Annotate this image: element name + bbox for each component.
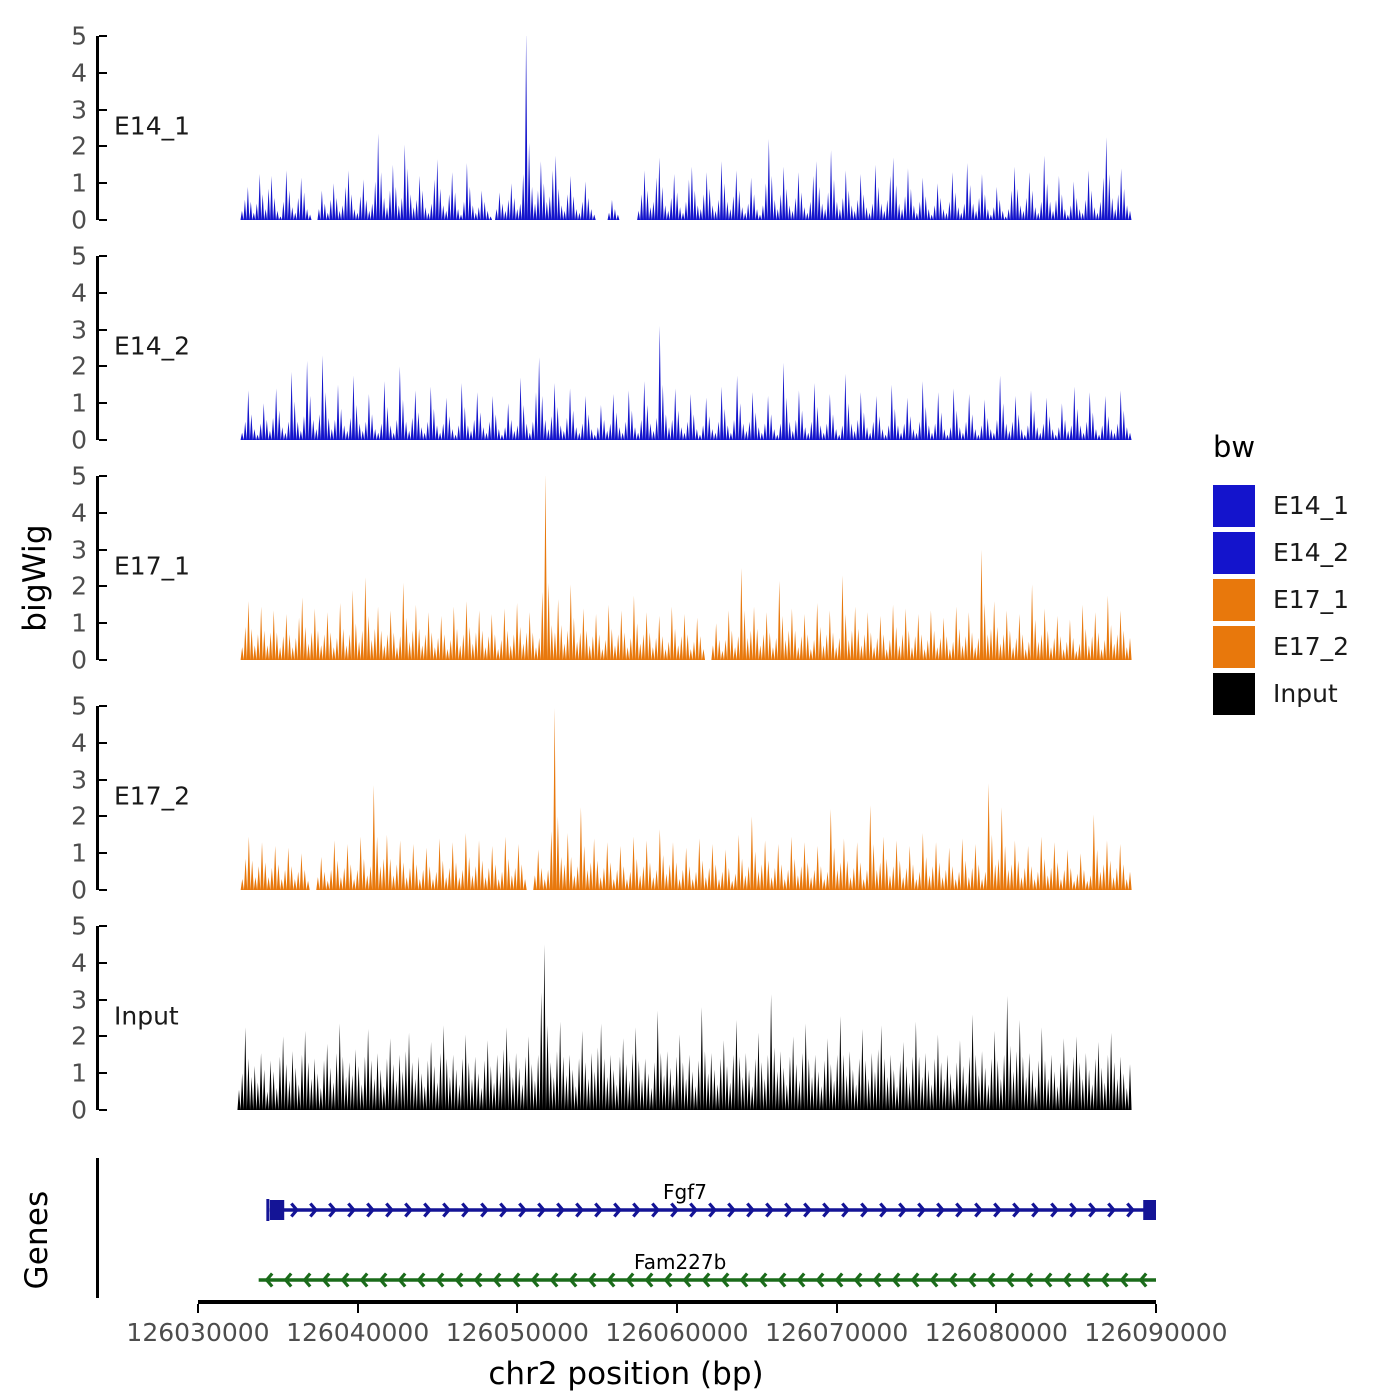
- legend-swatch: [1213, 532, 1255, 574]
- y-tick-label: 3: [71, 767, 87, 792]
- y-tick-label: 5: [71, 464, 87, 489]
- y-tick-label: 4: [71, 60, 87, 85]
- x-tick-label: 126080000: [925, 1318, 1068, 1347]
- y-tick-label: 5: [71, 914, 87, 939]
- x-tick-label: 126060000: [605, 1318, 748, 1347]
- x-axis: 1260300001260400001260500001260600001260…: [96, 1300, 1156, 1400]
- y-tick-label: 4: [71, 730, 87, 755]
- legend-item-e17_2[interactable]: E17_2: [1213, 623, 1393, 670]
- track-panel-e14_1: 012345E14_1: [96, 36, 1156, 220]
- genes-track-panel: Fgf7Fam227b: [96, 1158, 1156, 1298]
- y-tick-label: 5: [71, 244, 87, 269]
- track-panel-e17_2: 012345E17_2: [96, 706, 1156, 890]
- x-tick-label: 126070000: [765, 1318, 908, 1347]
- legend-label: Input: [1273, 679, 1338, 708]
- genes-axis-title: Genes: [19, 1185, 55, 1295]
- x-tick: [676, 1304, 678, 1313]
- legend-item-e14_1[interactable]: E14_1: [1213, 482, 1393, 529]
- y-tick-label: 3: [71, 987, 87, 1012]
- coverage-plot-input: [99, 926, 1156, 1110]
- track-panel-input: 012345Input: [96, 926, 1156, 1110]
- x-tick: [516, 1304, 518, 1313]
- track-panel-e14_2: 012345E14_2: [96, 256, 1156, 440]
- legend-swatch: [1213, 673, 1255, 715]
- y-tick-label: 2: [71, 804, 87, 829]
- x-tick: [995, 1304, 997, 1313]
- legend-swatch: [1213, 626, 1255, 668]
- legend-label: E14_2: [1273, 538, 1349, 567]
- y-tick-label: 4: [71, 500, 87, 525]
- y-tick-label: 0: [71, 428, 87, 453]
- y-axis-title: bigWig: [17, 518, 53, 638]
- y-tick-label: 2: [71, 574, 87, 599]
- x-tick-label: 126030000: [126, 1318, 269, 1347]
- legend-item-input[interactable]: Input: [1213, 670, 1393, 717]
- y-tick-label: 2: [71, 134, 87, 159]
- x-tick-label: 126050000: [446, 1318, 589, 1347]
- coverage-plot-e14_2: [99, 256, 1156, 440]
- x-tick: [197, 1304, 199, 1313]
- legend-item-e14_2[interactable]: E14_2: [1213, 529, 1393, 576]
- track-panel-e17_1: 012345E17_1: [96, 476, 1156, 660]
- y-tick-label: 0: [71, 1098, 87, 1123]
- x-tick-label: 126090000: [1084, 1318, 1227, 1347]
- coverage-plot-e17_1: [99, 476, 1156, 660]
- x-tick: [836, 1304, 838, 1313]
- y-tick-label: 1: [71, 841, 87, 866]
- y-tick-label: 5: [71, 24, 87, 49]
- gene-model-fam227b[interactable]: [96, 1263, 1156, 1297]
- y-tick-label: 5: [71, 694, 87, 719]
- y-tick-label: 1: [71, 611, 87, 636]
- coverage-plot-e17_2: [99, 706, 1156, 890]
- x-tick: [357, 1304, 359, 1313]
- y-tick-label: 0: [71, 208, 87, 233]
- gene-model-fgf7[interactable]: [96, 1193, 1156, 1227]
- legend-label: E14_1: [1273, 491, 1349, 520]
- y-tick-label: 4: [71, 280, 87, 305]
- legend-label: E17_2: [1273, 632, 1349, 661]
- y-tick-label: 2: [71, 354, 87, 379]
- y-tick-label: 1: [71, 1061, 87, 1086]
- y-tick-label: 3: [71, 537, 87, 562]
- y-tick-label: 0: [71, 878, 87, 903]
- legend: bw E14_1E14_2E17_1E17_2Input: [1213, 430, 1393, 717]
- x-tick: [1155, 1304, 1157, 1313]
- y-tick-label: 1: [71, 391, 87, 416]
- y-tick-label: 4: [71, 950, 87, 975]
- y-tick-label: 3: [71, 317, 87, 342]
- y-tick-label: 3: [71, 97, 87, 122]
- x-axis-title: chr2 position (bp): [96, 1356, 1156, 1392]
- legend-swatch: [1213, 579, 1255, 621]
- legend-swatch: [1213, 485, 1255, 527]
- y-tick-label: 0: [71, 648, 87, 673]
- legend-title: bw: [1213, 430, 1393, 464]
- legend-item-e17_1[interactable]: E17_1: [1213, 576, 1393, 623]
- legend-label: E17_1: [1273, 585, 1349, 614]
- coverage-plot-e14_1: [99, 36, 1156, 220]
- y-tick-label: 2: [71, 1024, 87, 1049]
- x-tick-label: 126040000: [286, 1318, 429, 1347]
- y-tick-label: 1: [71, 171, 87, 196]
